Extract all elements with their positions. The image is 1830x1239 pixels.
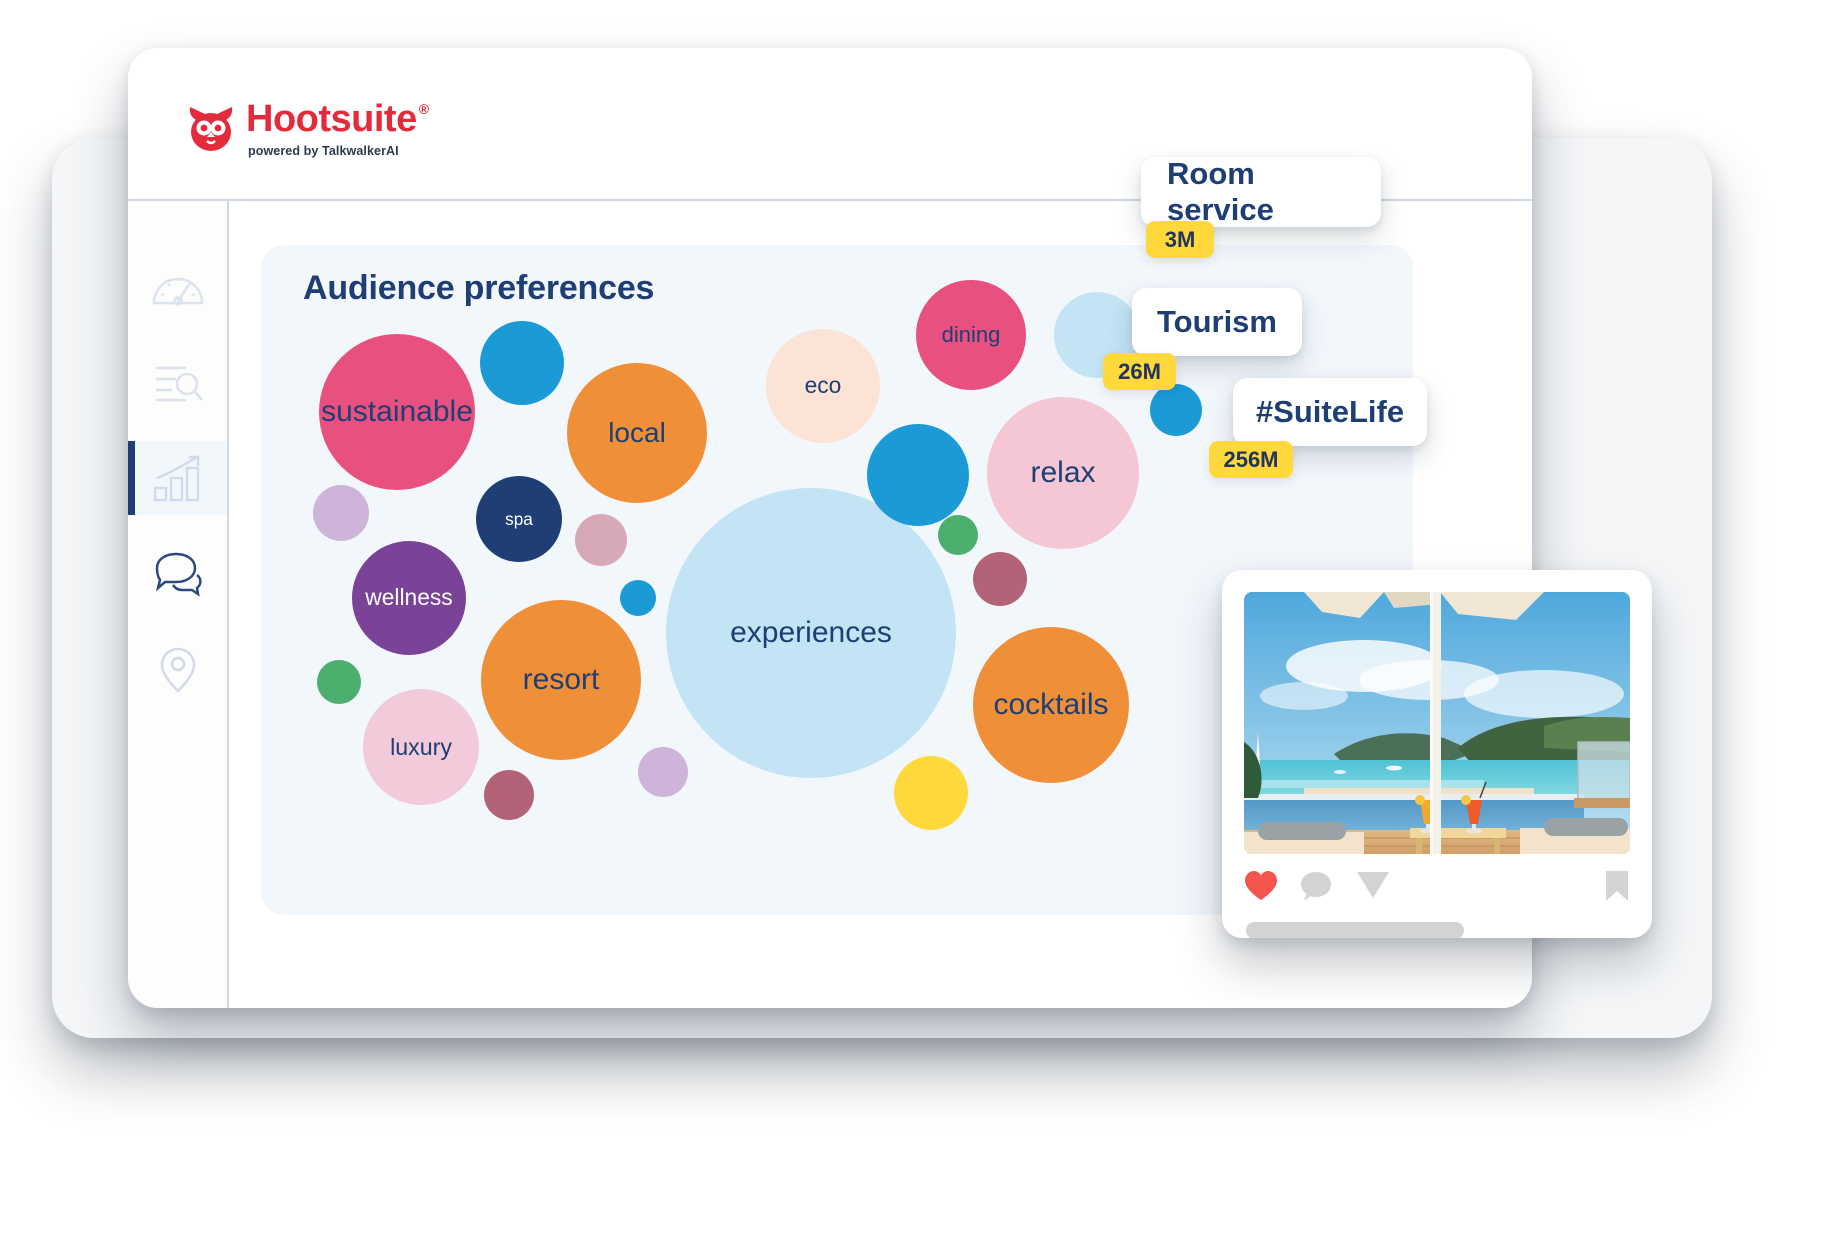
bubble-spa[interactable]: spa xyxy=(476,476,562,562)
send-triangle-icon[interactable] xyxy=(1356,870,1390,904)
keyword-badge-value: 3M xyxy=(1165,227,1196,253)
bubble-unlabeled[interactable] xyxy=(317,660,361,704)
chat-bubbles-icon xyxy=(151,551,205,597)
bubble-label: spa xyxy=(505,510,533,528)
sidebar-item-location[interactable] xyxy=(128,633,228,707)
bubble-sustainable[interactable]: sustainable xyxy=(319,334,475,490)
brand-name: Hootsuite xyxy=(246,100,417,138)
bubble-local[interactable]: local xyxy=(567,363,707,503)
keyword-tag-room-service[interactable]: Room service xyxy=(1141,157,1381,227)
social-post-card xyxy=(1222,570,1652,938)
bubble-label: resort xyxy=(523,664,600,696)
sidebar-item-analytics[interactable] xyxy=(128,441,228,515)
gauge-icon xyxy=(151,265,205,307)
keyword-badge-value: 256M xyxy=(1223,447,1278,473)
bubble-label: experiences xyxy=(730,617,892,649)
keyword-badge-suitelife: 256M xyxy=(1209,441,1293,478)
bubble-label: cocktails xyxy=(993,689,1108,721)
bubble-unlabeled[interactable] xyxy=(1150,384,1202,436)
bubble-eco[interactable]: eco xyxy=(766,329,880,443)
bubble-wellness[interactable]: wellness xyxy=(352,541,466,655)
keyword-tag-suitelife[interactable]: #SuiteLife xyxy=(1233,378,1427,446)
bubble-luxury[interactable]: luxury xyxy=(363,689,479,805)
bubble-cocktails[interactable]: cocktails xyxy=(973,627,1129,783)
bubble-unlabeled[interactable] xyxy=(484,770,534,820)
bubble-unlabeled[interactable] xyxy=(867,424,969,526)
bubble-label: local xyxy=(608,418,666,447)
bubble-unlabeled[interactable] xyxy=(620,580,656,616)
keyword-tag-label: Room service xyxy=(1167,156,1355,228)
brand-logo[interactable]: Hootsuite ® powered by TalkwalkerAI xyxy=(185,100,429,158)
bubble-unlabeled[interactable] xyxy=(480,321,564,405)
bubble-unlabeled[interactable] xyxy=(638,747,688,797)
registered-mark: ® xyxy=(419,102,429,116)
bubble-experiences[interactable]: experiences xyxy=(666,488,956,778)
heart-icon[interactable] xyxy=(1244,870,1278,904)
bubble-label: sustainable xyxy=(321,396,473,428)
brand-tagline: powered by TalkwalkerAI xyxy=(248,144,429,158)
keyword-badge-value: 26M xyxy=(1118,359,1161,385)
bubble-label: eco xyxy=(805,374,842,398)
comment-bubble-icon[interactable] xyxy=(1300,870,1334,904)
bubble-unlabeled[interactable] xyxy=(575,514,627,566)
sidebar-item-dashboard[interactable] xyxy=(128,249,228,323)
list-search-icon xyxy=(152,360,204,404)
bubble-dining[interactable]: dining xyxy=(916,280,1026,390)
bubble-resort[interactable]: resort xyxy=(481,600,641,760)
bar-chart-trend-icon xyxy=(151,454,205,502)
post-action-bar xyxy=(1244,870,1630,904)
bubble-unlabeled[interactable] xyxy=(938,515,978,555)
post-caption-placeholder xyxy=(1246,922,1464,938)
bubble-relax[interactable]: relax xyxy=(987,397,1139,549)
bubble-label: wellness xyxy=(365,586,452,610)
keyword-tag-tourism[interactable]: Tourism xyxy=(1132,288,1302,356)
owl-logo-icon xyxy=(185,102,237,154)
screenshot-stage: Hootsuite ® powered by TalkwalkerAI xyxy=(0,0,1830,1239)
sidebar-item-search[interactable] xyxy=(128,345,228,419)
map-pin-icon xyxy=(158,646,198,694)
post-image xyxy=(1244,592,1630,854)
bookmark-icon[interactable] xyxy=(1604,870,1630,904)
keyword-badge-room-service: 3M xyxy=(1146,221,1214,258)
keyword-tag-label: #SuiteLife xyxy=(1256,394,1404,430)
keyword-tag-label: Tourism xyxy=(1157,304,1277,340)
bubble-unlabeled[interactable] xyxy=(973,552,1027,606)
bubble-unlabeled[interactable] xyxy=(894,756,968,830)
bubble-unlabeled[interactable] xyxy=(313,485,369,541)
keyword-badge-tourism: 26M xyxy=(1103,353,1176,390)
bubble-label: luxury xyxy=(390,735,452,759)
bubble-label: relax xyxy=(1030,457,1095,489)
page-title: Audience preferences xyxy=(303,269,654,308)
bubble-label: dining xyxy=(942,323,1001,346)
sidebar-item-engage[interactable] xyxy=(128,537,228,611)
sidebar xyxy=(128,201,228,1008)
